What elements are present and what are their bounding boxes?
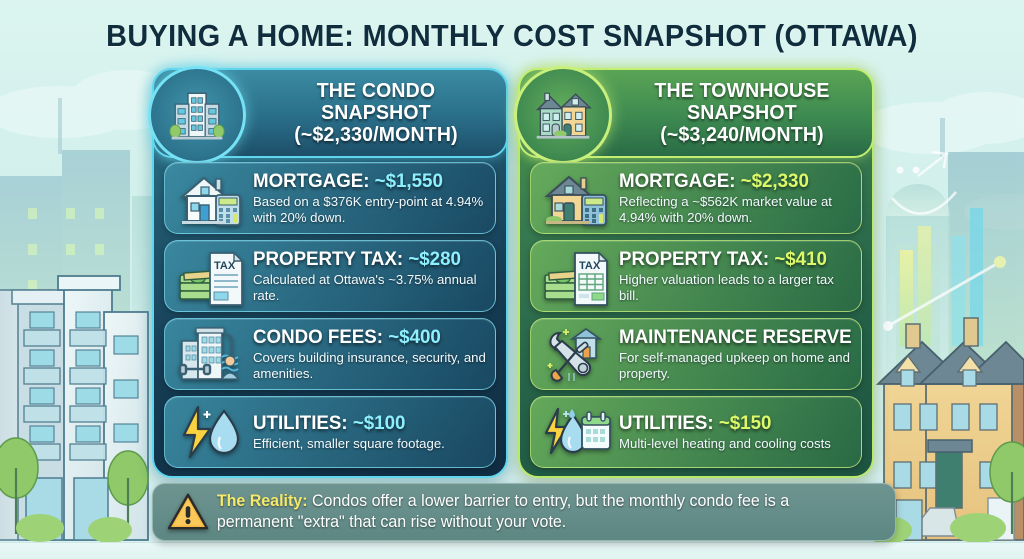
row-condo-property-tax-amount: ~$280 (408, 248, 461, 270)
row-townhouse-property-tax: TAX PROPERTY TAX: ~$410 Higher valuation… (530, 240, 862, 312)
cash-tax-document-icon: TAX (173, 243, 251, 309)
reality-banner-text: The Reality: Condos offer a lower barrie… (211, 491, 863, 532)
row-condo-fees-text: CONDO FEES: ~$400 Covers building insura… (251, 327, 487, 381)
panel-townhouse-header: THE TOWNHOUSE SNAPSHOT (~$3,240/MONTH) (518, 68, 874, 158)
condo-building-icon (148, 66, 246, 164)
row-condo-mortgage-amount: ~$1,550 (375, 170, 443, 192)
row-townhouse-utilities-label: UTILITIES: (619, 412, 714, 434)
row-condo-mortgage-sub: Based on a $376K entry-point at 4.94% wi… (253, 194, 487, 225)
reality-banner: The Reality: Condos offer a lower barrie… (152, 483, 896, 541)
row-townhouse-mortgage-amount: ~$2,330 (741, 170, 809, 192)
row-condo-utilities-head: UTILITIES: ~$100 (253, 413, 478, 434)
row-condo-fees: CONDO FEES: ~$400 Covers building insura… (164, 318, 496, 390)
row-townhouse-property-tax-sub: Higher valuation leads to a larger tax b… (619, 272, 853, 303)
row-townhouse-mortgage-sub: Reflecting a ~$562K market value at 4.94… (619, 194, 853, 225)
house-calculator-icon (173, 165, 251, 231)
row-condo-utilities: UTILITIES: ~$100 Efficient, smaller squa… (164, 396, 496, 468)
panel-condo-title-line1: THE CONDO SNAPSHOT (260, 80, 492, 123)
row-townhouse-mortgage: MORTGAGE: ~$2,330 Reflecting a ~$562K ma… (530, 162, 862, 234)
reality-banner-lead: The Reality: (217, 492, 308, 510)
row-townhouse-utilities-head: UTILITIES: ~$150 (619, 413, 844, 434)
panel-townhouse-title: THE TOWNHOUSE SNAPSHOT (~$3,240/MONTH) (620, 80, 864, 145)
row-condo-utilities-sub: Efficient, smaller square footage. (253, 436, 487, 452)
svg-text:TAX: TAX (579, 260, 601, 272)
row-condo-mortgage-text: MORTGAGE: ~$1,550 Based on a $376K entry… (251, 171, 487, 225)
row-townhouse-utilities: UTILITIES: ~$150 Multi-level heating and… (530, 396, 862, 468)
row-condo-mortgage-head: MORTGAGE: ~$1,550 (253, 171, 478, 192)
row-townhouse-property-tax-amount: ~$410 (774, 248, 827, 270)
cash-tax-document-icon: TAX (539, 243, 617, 309)
row-condo-fees-sub: Covers building insurance, security, and… (253, 350, 487, 381)
row-townhouse-mortgage-label: MORTGAGE: (619, 170, 735, 192)
panel-townhouse: THE TOWNHOUSE SNAPSHOT (~$3,240/MONTH) (518, 68, 874, 478)
panel-condo-header: THE CONDO SNAPSHOT (~$2,330/MONTH) (152, 68, 508, 158)
row-townhouse-property-tax-label: PROPERTY TAX: (619, 248, 769, 270)
panel-townhouse-title-line2: (~$3,240/MONTH) (626, 124, 858, 146)
row-townhouse-utilities-text: UTILITIES: ~$150 Multi-level heating and… (617, 413, 853, 452)
row-townhouse-maintenance-label: MAINTENANCE RESERVE (619, 326, 852, 348)
bolt-waterdrop-icon (173, 399, 251, 465)
row-townhouse-maintenance-text: MAINTENANCE RESERVE For self-managed upk… (617, 327, 853, 381)
panel-condo-title-line2: (~$2,330/MONTH) (260, 124, 492, 146)
condo-amenities-icon (173, 321, 251, 387)
row-condo-utilities-text: UTILITIES: ~$100 Efficient, smaller squa… (251, 413, 487, 452)
page-title: BUYING A HOME: MONTHLY COST SNAPSHOT (OT… (36, 18, 988, 54)
row-townhouse-mortgage-text: MORTGAGE: ~$2,330 Reflecting a ~$562K ma… (617, 171, 853, 225)
bolt-waterdrop-calendar-icon (539, 399, 617, 465)
panel-townhouse-title-line1: THE TOWNHOUSE SNAPSHOT (626, 80, 858, 123)
wrench-screwdriver-house-icon (539, 321, 617, 387)
row-condo-property-tax-label: PROPERTY TAX: (253, 248, 403, 270)
row-townhouse-property-tax-head: PROPERTY TAX: ~$410 (619, 249, 844, 270)
row-townhouse-maintenance-head: MAINTENANCE RESERVE (619, 327, 844, 348)
row-condo-property-tax: TAX PROPERTY TAX: ~$280 Calculated at Ot… (164, 240, 496, 312)
row-townhouse-utilities-sub: Multi-level heating and cooling costs (619, 436, 853, 452)
panel-condo: THE CONDO SNAPSHOT (~$2,330/MONTH) (152, 68, 508, 478)
row-condo-property-tax-text: PROPERTY TAX: ~$280 Calculated at Ottawa… (251, 249, 487, 303)
row-townhouse-utilities-amount: ~$150 (719, 412, 772, 434)
row-condo-fees-amount: ~$400 (388, 326, 441, 348)
panel-condo-title: THE CONDO SNAPSHOT (~$2,330/MONTH) (254, 80, 498, 145)
background-ground (0, 542, 1024, 559)
row-condo-fees-label: CONDO FEES: (253, 326, 383, 348)
row-condo-utilities-amount: ~$100 (353, 412, 406, 434)
row-condo-mortgage-label: MORTGAGE: (253, 170, 369, 192)
row-condo-fees-head: CONDO FEES: ~$400 (253, 327, 478, 348)
row-condo-property-tax-sub: Calculated at Ottawa's ~3.75% annual rat… (253, 272, 487, 303)
row-townhouse-property-tax-text: PROPERTY TAX: ~$410 Higher valuation lea… (617, 249, 853, 303)
row-townhouse-maintenance-sub: For self-managed upkeep on home and prop… (619, 350, 853, 381)
row-condo-mortgage: MORTGAGE: ~$1,550 Based on a $376K entry… (164, 162, 496, 234)
panel-condo-rows: MORTGAGE: ~$1,550 Based on a $376K entry… (164, 162, 496, 468)
row-townhouse-mortgage-head: MORTGAGE: ~$2,330 (619, 171, 844, 192)
infographic-canvas: BUYING A HOME: MONTHLY COST SNAPSHOT (OT… (0, 0, 1024, 559)
row-townhouse-maintenance: MAINTENANCE RESERVE For self-managed upk… (530, 318, 862, 390)
svg-text:TAX: TAX (214, 260, 236, 272)
warning-triangle-icon (165, 490, 211, 534)
row-condo-property-tax-head: PROPERTY TAX: ~$280 (253, 249, 478, 270)
house-calculator-icon (539, 165, 617, 231)
townhouse-pair-icon (514, 66, 612, 164)
row-condo-utilities-label: UTILITIES: (253, 412, 348, 434)
panel-townhouse-rows: MORTGAGE: ~$2,330 Reflecting a ~$562K ma… (530, 162, 862, 468)
